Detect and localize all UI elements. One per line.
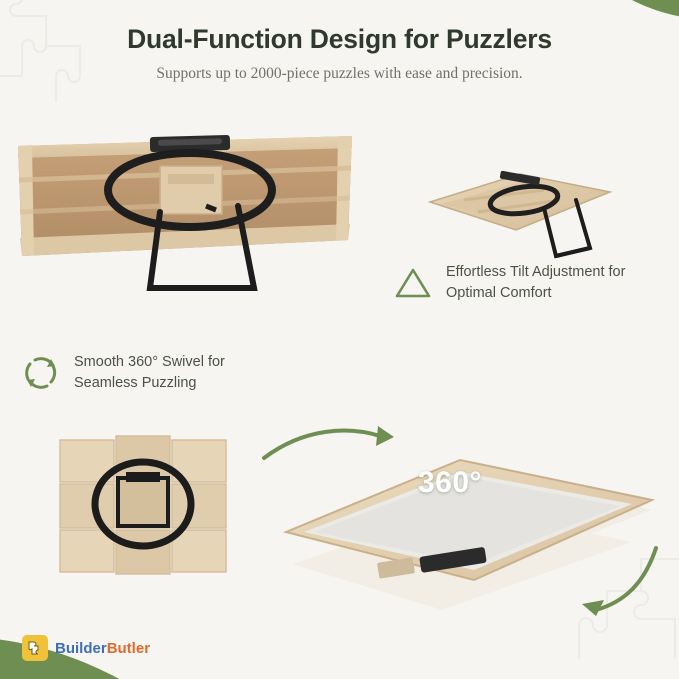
rotation-label: 360°	[418, 466, 482, 500]
feature-swivel-label: Smooth 360° Swivel for Seamless Puzzling	[74, 352, 289, 394]
feature-tilt-label: Effortless Tilt Adjustment for Optimal C…	[446, 262, 671, 304]
brand-logo: BuilderButler	[22, 635, 150, 661]
puzzle-outline-decoration-bottom-right	[559, 539, 679, 669]
feature-tilt: Effortless Tilt Adjustment for Optimal C…	[392, 262, 671, 304]
brand-name-part2: Butler	[107, 640, 150, 657]
triangle-tilt-icon	[392, 262, 434, 304]
board-underside-swivel-detail	[48, 428, 238, 588]
product-infographic: Dual-Function Design for Puzzlers Suppor…	[0, 0, 679, 679]
puzzle-piece-logo-icon	[22, 635, 48, 661]
circular-arrows-rotate-icon	[20, 352, 62, 394]
brand-name-part1: Builder	[55, 640, 107, 657]
board-with-stand-rear-view	[10, 128, 360, 298]
header: Dual-Function Design for Puzzlers Suppor…	[0, 24, 679, 83]
brand-name: BuilderButler	[55, 640, 150, 657]
page-subtitle: Supports up to 2000-piece puzzles with e…	[0, 65, 679, 83]
board-tilted-side-view	[424, 160, 614, 275]
page-title: Dual-Function Design for Puzzlers	[0, 24, 679, 55]
feature-swivel: Smooth 360° Swivel for Seamless Puzzling	[20, 352, 289, 394]
board-rotating-motion-view	[252, 414, 672, 624]
